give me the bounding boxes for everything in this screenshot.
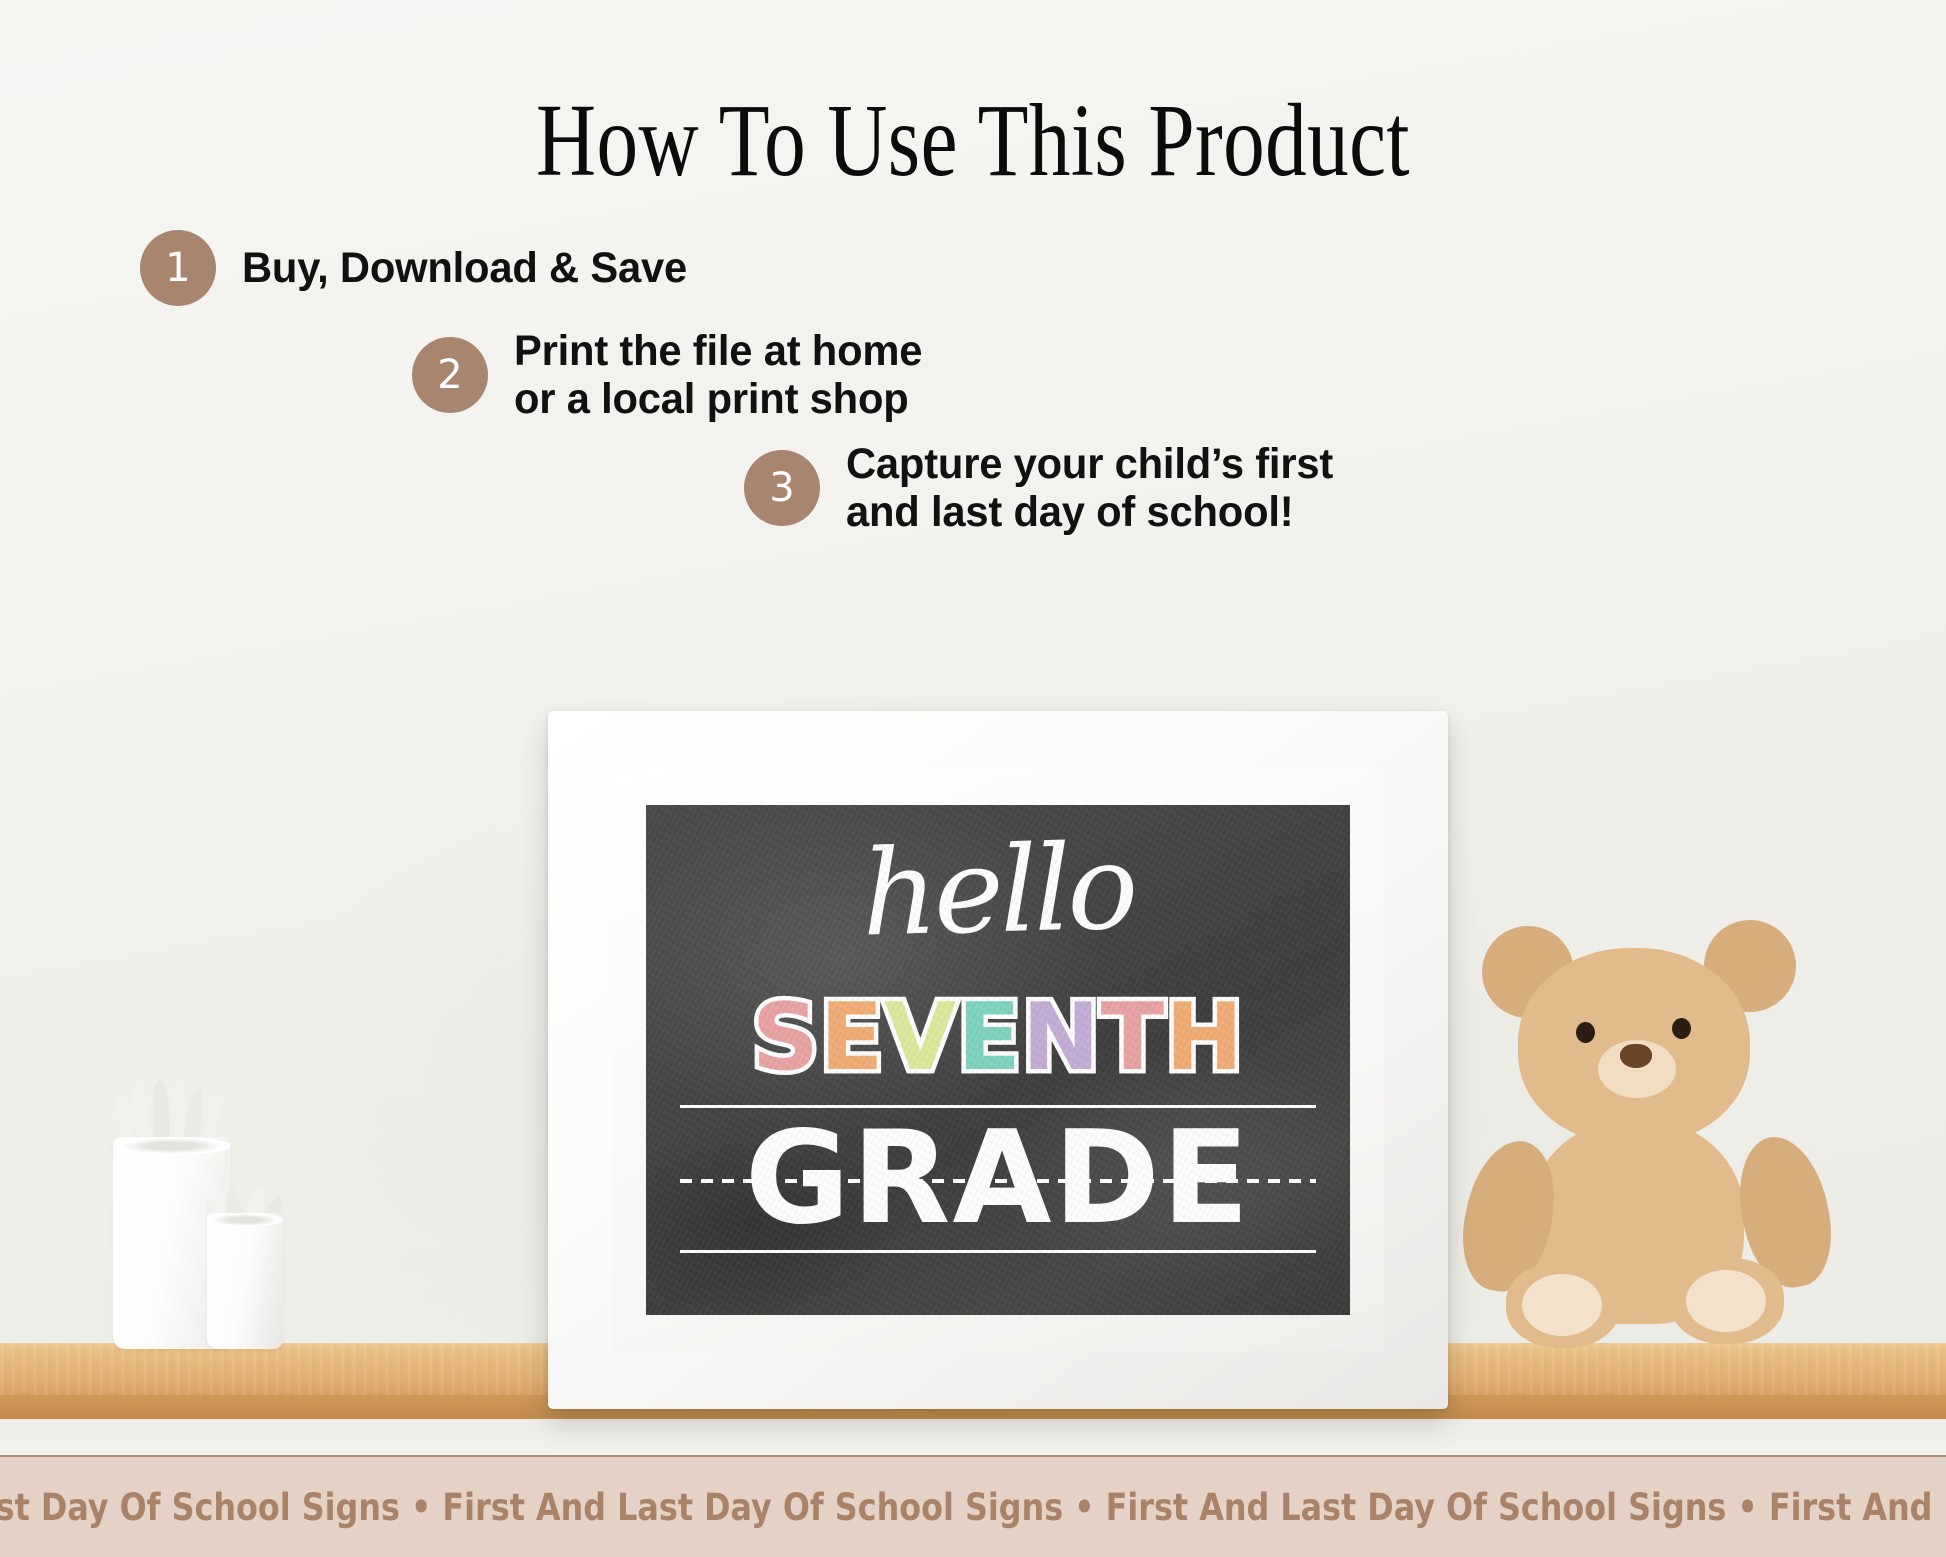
grade-label-block: GRADE: [680, 1105, 1316, 1253]
bottom-banner: ast Day Of School Signs • First And Last…: [0, 1455, 1946, 1557]
grade-word-text: SEVENTH: [646, 991, 1350, 1084]
grade-label-text: GRADE: [680, 1111, 1316, 1248]
pencil-cup-large-rim: [113, 1137, 231, 1155]
step-item-3: 3 Capture your child’s first and last da…: [744, 440, 1348, 536]
below-shelf-wall: [0, 1419, 1946, 1455]
pencil-cup-contents-large: [113, 1080, 235, 1144]
grade-letter-4: N: [1022, 991, 1101, 1084]
bear-eye-right: [1672, 1018, 1691, 1039]
grade-letter-2: V: [884, 991, 957, 1084]
step-number-badge-3: 3: [744, 450, 820, 526]
frame-mat: hello SEVENTH GRADE: [612, 769, 1384, 1351]
step-label-1: Buy, Download & Save: [242, 244, 687, 292]
banner-marquee-text: ast Day Of School Signs • First And Last…: [0, 1486, 1946, 1529]
step-item-2: 2 Print the file at home or a local prin…: [412, 327, 935, 423]
pencil-cup-small-rim: [207, 1213, 283, 1227]
teddy-bear: [1456, 904, 1864, 1354]
chalkboard-sign: hello SEVENTH GRADE: [646, 805, 1350, 1315]
hello-script-text: hello: [646, 822, 1350, 958]
step-number-badge-2: 2: [412, 337, 488, 413]
product-listing-image: How To Use This Product 1 Buy, Download …: [0, 0, 1946, 1557]
grade-letter-3: E: [957, 991, 1022, 1084]
step-label-2: Print the file at home or a local print …: [514, 327, 922, 423]
step-label-3: Capture your child’s first and last day …: [846, 440, 1333, 536]
step-item-1: 1 Buy, Download & Save: [140, 230, 701, 306]
grade-letter-1: E: [820, 991, 885, 1084]
page-title: How To Use This Product: [195, 88, 1752, 194]
grade-letter-6: H: [1165, 991, 1244, 1084]
pencil-cup-small: [207, 1213, 283, 1349]
grade-letter-5: T: [1101, 991, 1165, 1084]
step-number-badge-1: 1: [140, 230, 216, 306]
grade-letter-0: S: [752, 991, 820, 1084]
bear-eye-left: [1576, 1022, 1595, 1043]
picture-frame: hello SEVENTH GRADE: [548, 711, 1448, 1409]
